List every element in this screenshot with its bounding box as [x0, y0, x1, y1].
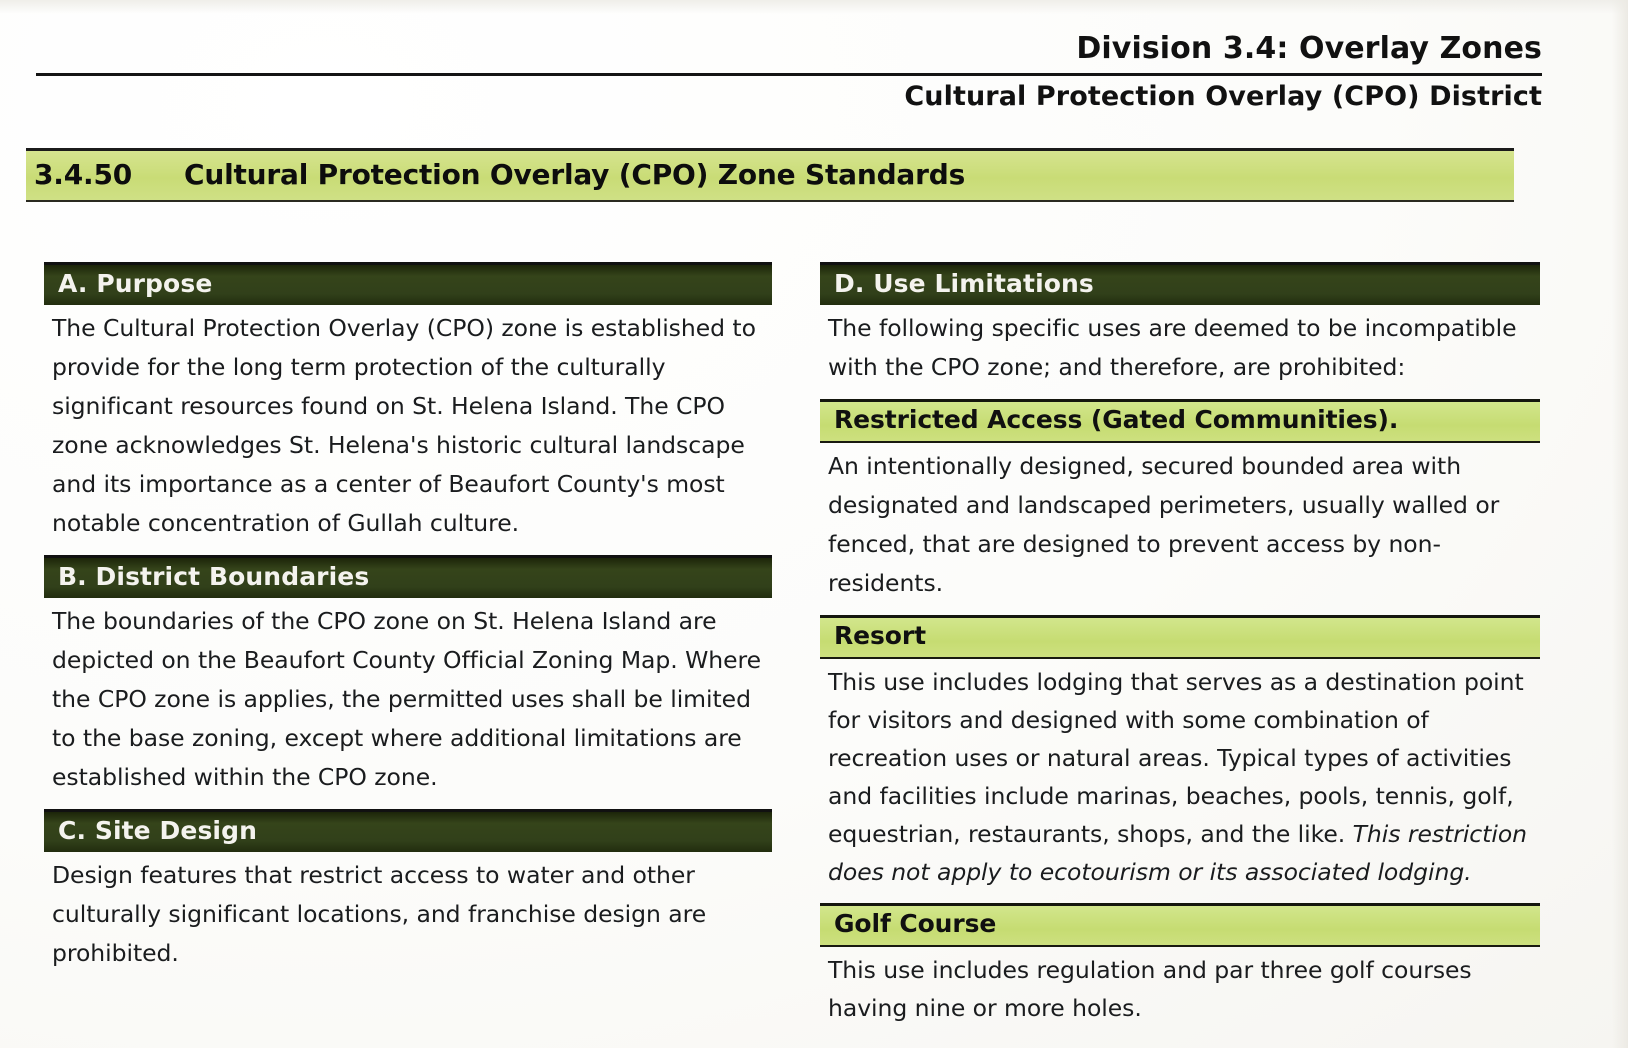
right-column: D. Use Limitations The following specifi… [820, 262, 1540, 1039]
document-page: Division 3.4: Overlay Zones Cultural Pro… [0, 0, 1628, 1048]
running-head-division: Division 3.4: Overlay Zones [1076, 34, 1542, 68]
body-restricted-access: An intentionally designed, secured bound… [820, 443, 1540, 613]
body-purpose: The Cultural Protection Overlay (CPO) zo… [44, 305, 772, 553]
heading-site-design: C. Site Design [44, 809, 772, 852]
body-use-limitations: The following specific uses are deemed t… [820, 305, 1540, 397]
heading-purpose: A. Purpose [44, 262, 772, 305]
running-head-line1-wrap: Division 3.4: Overlay Zones [36, 34, 1542, 68]
heading-restricted-access: Restricted Access (Gated Communities). [820, 399, 1540, 443]
left-column: A. Purpose The Cultural Protection Overl… [44, 262, 772, 1039]
body-golf-course-text: This use includes regulation and par thr… [828, 951, 1536, 1027]
body-resort: This use includes lodging that serves as… [820, 659, 1540, 901]
block-use-limitations: D. Use Limitations The following specifi… [820, 262, 1540, 397]
scan-edge-top [0, 0, 1628, 14]
body-site-design: Design features that restrict access to … [44, 852, 772, 983]
body-golf-course: This use includes regulation and par thr… [820, 947, 1540, 1037]
section-number: 3.4.50 [34, 158, 184, 191]
running-head-district: Cultural Protection Overlay (CPO) Distri… [36, 83, 1542, 111]
two-column-body: A. Purpose The Cultural Protection Overl… [0, 262, 1628, 1039]
heading-resort: Resort [820, 615, 1540, 659]
body-district-boundaries-text: The boundaries of the CPO zone on St. He… [52, 602, 768, 797]
section-banner-inner: 3.4.50 Cultural Protection Overlay (CPO)… [26, 158, 1514, 191]
block-resort: Resort This use includes lodging that se… [820, 615, 1540, 901]
heading-golf-course: Golf Course [820, 903, 1540, 947]
block-purpose: A. Purpose The Cultural Protection Overl… [44, 262, 772, 553]
heading-use-limitations: D. Use Limitations [820, 262, 1540, 305]
heading-district-boundaries: B. District Boundaries [44, 555, 772, 598]
body-use-limitations-text: The following specific uses are deemed t… [828, 309, 1536, 387]
body-restricted-access-text: An intentionally designed, secured bound… [828, 447, 1536, 603]
block-site-design: C. Site Design Design features that rest… [44, 809, 772, 983]
body-district-boundaries: The boundaries of the CPO zone on St. He… [44, 598, 772, 807]
block-golf-course: Golf Course This use includes regulation… [820, 903, 1540, 1037]
running-head: Division 3.4: Overlay Zones Cultural Pro… [36, 34, 1542, 111]
block-restricted-access: Restricted Access (Gated Communities). A… [820, 399, 1540, 613]
body-site-design-text: Design features that restrict access to … [52, 856, 768, 973]
body-purpose-text: The Cultural Protection Overlay (CPO) zo… [52, 309, 768, 543]
running-head-rule [36, 73, 1542, 76]
body-resort-text: This use includes lodging that serves as… [828, 663, 1536, 891]
section-banner: 3.4.50 Cultural Protection Overlay (CPO)… [26, 148, 1514, 202]
section-title: Cultural Protection Overlay (CPO) Zone S… [184, 158, 965, 191]
block-district-boundaries: B. District Boundaries The boundaries of… [44, 555, 772, 807]
